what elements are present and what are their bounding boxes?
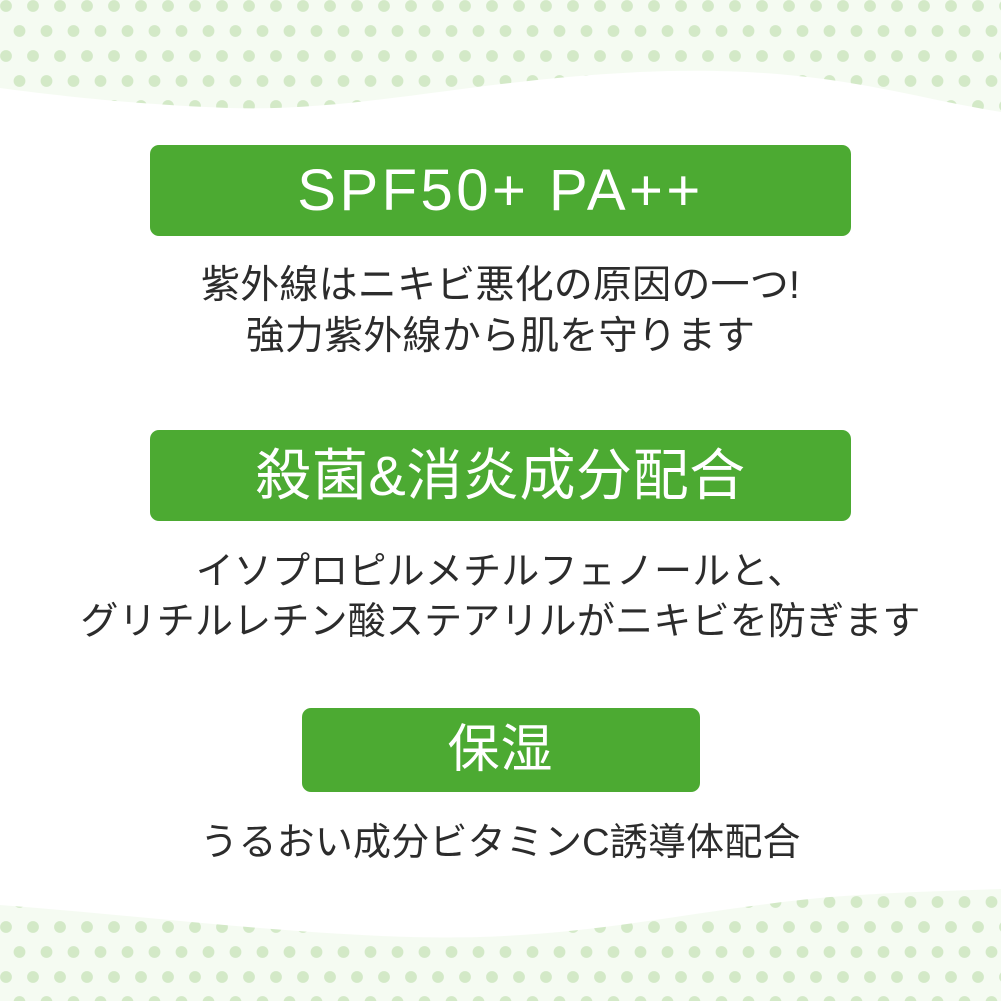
feature-block-moisturize: 保湿 うるおい成分ビタミンC誘導体配合 — [0, 708, 1001, 868]
feature-description-sterilize: イソプロピルメチルフェノールと、 グリチルレチン酸ステアリルがニキビを防ぎます — [0, 547, 1001, 647]
feature-badge-spf-label: SPF50+ PA++ — [297, 162, 703, 220]
feature-badge-moisturize-label: 保湿 — [447, 724, 553, 776]
feature-list: SPF50+ PA++ 紫外線はニキビ悪化の原因の一つ! 強力紫外線から肌を守り… — [0, 0, 1001, 1001]
promo-graphic: SPF50+ PA++ 紫外線はニキビ悪化の原因の一つ! 強力紫外線から肌を守り… — [0, 0, 1001, 1001]
feature-block-spf: SPF50+ PA++ 紫外線はニキビ悪化の原因の一つ! 強力紫外線から肌を守り… — [0, 145, 1001, 363]
feature-description-spf: 紫外線はニキビ悪化の原因の一つ! 強力紫外線から肌を守ります — [0, 260, 1001, 363]
feature-block-sterilize: 殺菌&消炎成分配合 イソプロピルメチルフェノールと、 グリチルレチン酸ステアリル… — [0, 430, 1001, 647]
feature-badge-spf: SPF50+ PA++ — [150, 145, 851, 236]
feature-description-moisturize: うるおい成分ビタミンC誘導体配合 — [0, 818, 1001, 868]
feature-badge-sterilize-label: 殺菌&消炎成分配合 — [255, 448, 745, 504]
feature-badge-moisturize: 保湿 — [302, 708, 700, 792]
feature-badge-sterilize: 殺菌&消炎成分配合 — [150, 430, 851, 521]
